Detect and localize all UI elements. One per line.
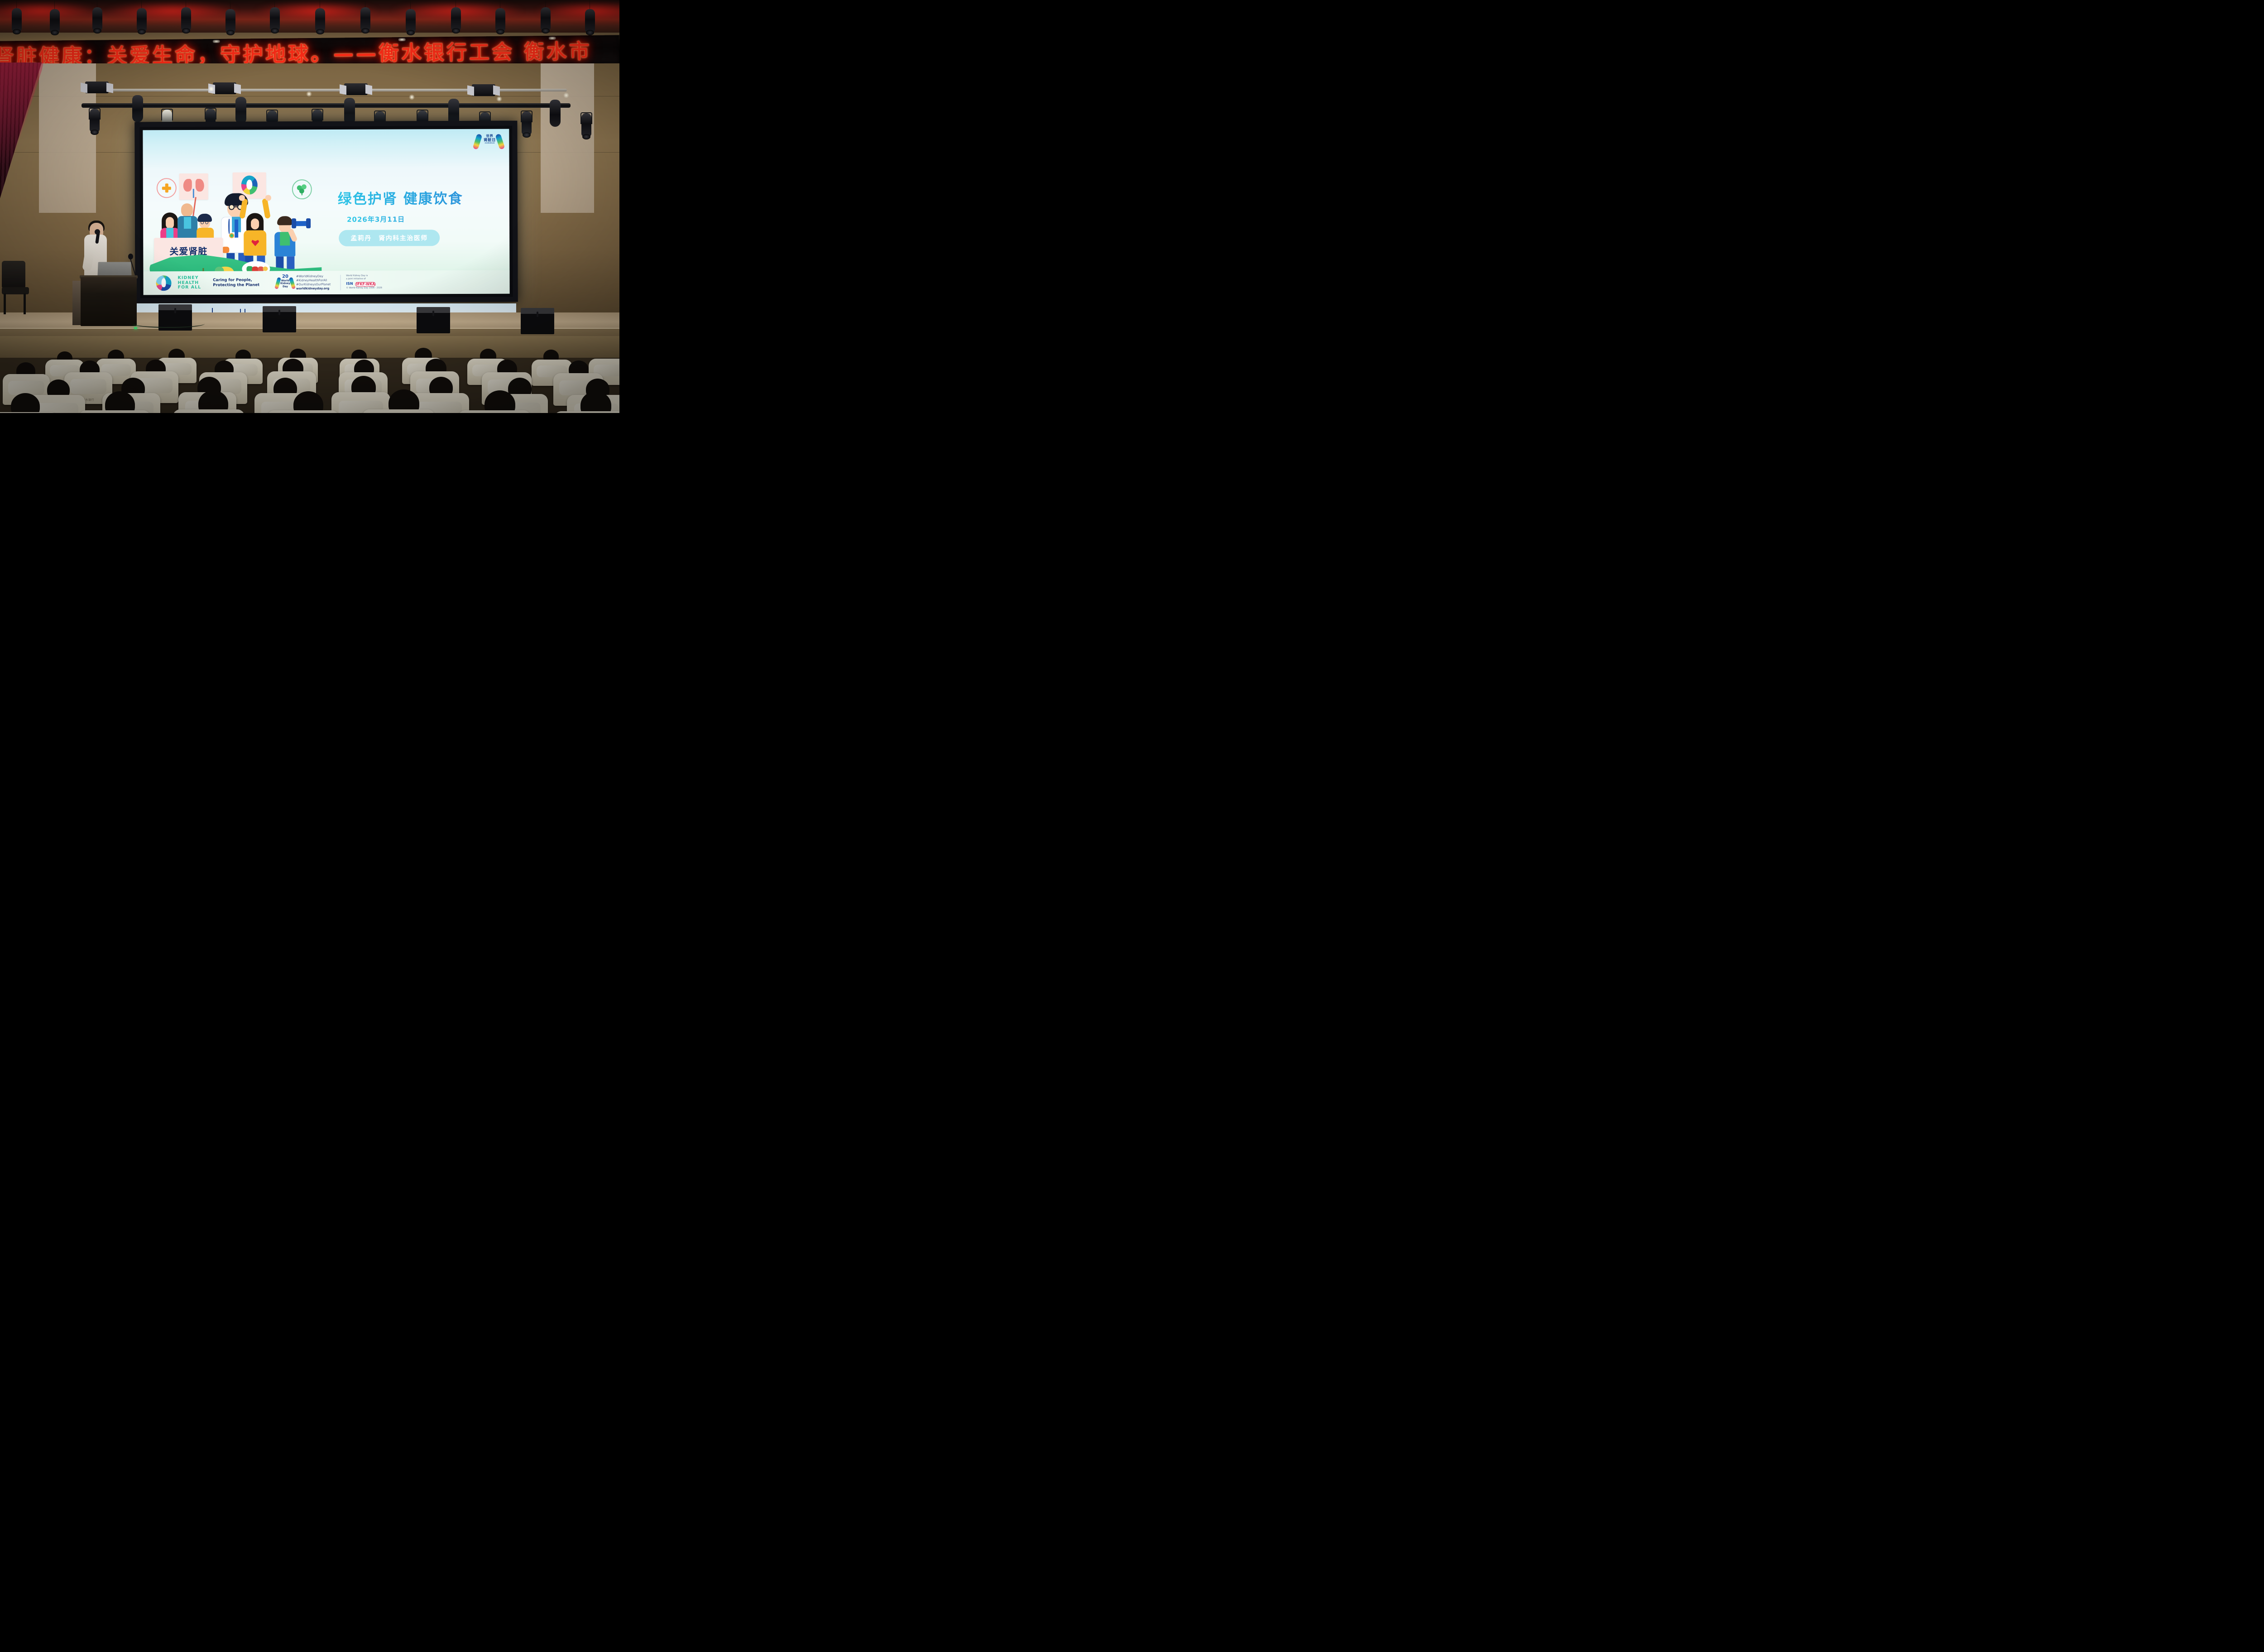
medical-cross-bubble bbox=[157, 178, 177, 198]
ifkf-wka-logo: IFKF-WKA bbox=[355, 282, 376, 286]
audience-chair: 衡水银行 bbox=[0, 412, 58, 413]
kidney-placard bbox=[179, 173, 208, 200]
wkd-logo-date: 2026年3月12日 bbox=[483, 142, 496, 144]
projection-screen: 世界 肾脏日 2026年3月12日 bbox=[134, 121, 518, 303]
leaf-bubble bbox=[292, 179, 312, 199]
audience-chair bbox=[554, 411, 619, 413]
podium-side bbox=[72, 281, 82, 325]
speaker-badge: 孟莉丹 肾内科主治医师 bbox=[339, 230, 440, 246]
wkd-footer-name: World Kidney Day bbox=[279, 279, 291, 288]
stage-monitor-speaker bbox=[417, 307, 450, 333]
slide-footer: KIDNEY HEALTH FOR ALL Caring for People,… bbox=[143, 270, 509, 295]
house-side-wall bbox=[0, 336, 619, 358]
hashtag-1: #WorldKidneyDay bbox=[296, 274, 331, 279]
wkd-name-3: Day bbox=[279, 285, 291, 288]
wkd-hashtags: #WorldKidneyDay #KidneyHealthForAll #Our… bbox=[296, 274, 331, 291]
joint-line-2: a joint initiative of bbox=[346, 278, 382, 281]
wkd-anniversary-number: 20 bbox=[282, 274, 288, 279]
food-icons bbox=[153, 169, 314, 170]
slide-date: 2026年3月11日 bbox=[347, 214, 483, 224]
audience-chair: 衡水银行 bbox=[173, 409, 245, 413]
gooseneck-mic-head bbox=[128, 254, 133, 259]
audience-chair: 衡水银行 bbox=[267, 410, 339, 413]
joint-initiative-block: World Kidney Day is a joint initiative o… bbox=[340, 275, 382, 290]
wkd-name-2: Kidney bbox=[279, 283, 291, 286]
audience-chair bbox=[362, 409, 435, 413]
wkd-20-years-mark: 20 World Kidney Day bbox=[278, 274, 293, 291]
stage-chair bbox=[2, 261, 30, 315]
wkd-logo-line2: 肾脏日 bbox=[483, 138, 496, 142]
wkd-copyright: © World Kidney Day 2006 - 2026 bbox=[346, 287, 382, 290]
tagline-line-2: Protecting the Planet bbox=[213, 283, 259, 288]
audience-chair: 衡水银行 bbox=[79, 410, 150, 413]
wkd-website: worldkidneyday.org bbox=[296, 287, 329, 290]
tagline: Caring for People, Protecting the Planet bbox=[213, 278, 259, 288]
kidney-globe-icon bbox=[156, 275, 171, 291]
tagline-line-1: Caring for People, bbox=[213, 278, 259, 283]
microphone-head bbox=[95, 229, 100, 235]
stage-monitor-speaker bbox=[263, 306, 296, 332]
hashtag-2: #KidneyHealthForAll bbox=[296, 279, 331, 283]
presentation-slide: 世界 肾脏日 2026年3月12日 bbox=[143, 129, 509, 295]
podium bbox=[81, 277, 137, 326]
slide-title: 绿色护肾 健康饮食 bbox=[338, 187, 505, 208]
audience-chair bbox=[458, 410, 531, 413]
wkd-footer-block: 20 World Kidney Day #WorldKidneyDay #Kid… bbox=[278, 274, 382, 291]
world-kidney-day-logo: 世界 肾脏日 2026年3月12日 bbox=[475, 133, 503, 150]
kidney-health-for-all-label: KIDNEY HEALTH FOR ALL bbox=[177, 276, 201, 290]
isn-logo: ISN bbox=[346, 282, 353, 287]
floor-cable bbox=[132, 320, 205, 328]
stage-monitor-speaker bbox=[521, 308, 554, 334]
auditorium-photo: 肾脏健康：关爱生命，守护地球。——衡水银行工会 衡水市 bbox=[0, 0, 619, 413]
audience-area: 衡水银行 衡水银行 衡水银行 bbox=[0, 336, 619, 413]
hashtag-3: #OurKidneysOurPlanet bbox=[296, 283, 331, 287]
khfa-line-3: FOR ALL bbox=[178, 285, 201, 290]
equipment-status-led bbox=[134, 327, 137, 329]
